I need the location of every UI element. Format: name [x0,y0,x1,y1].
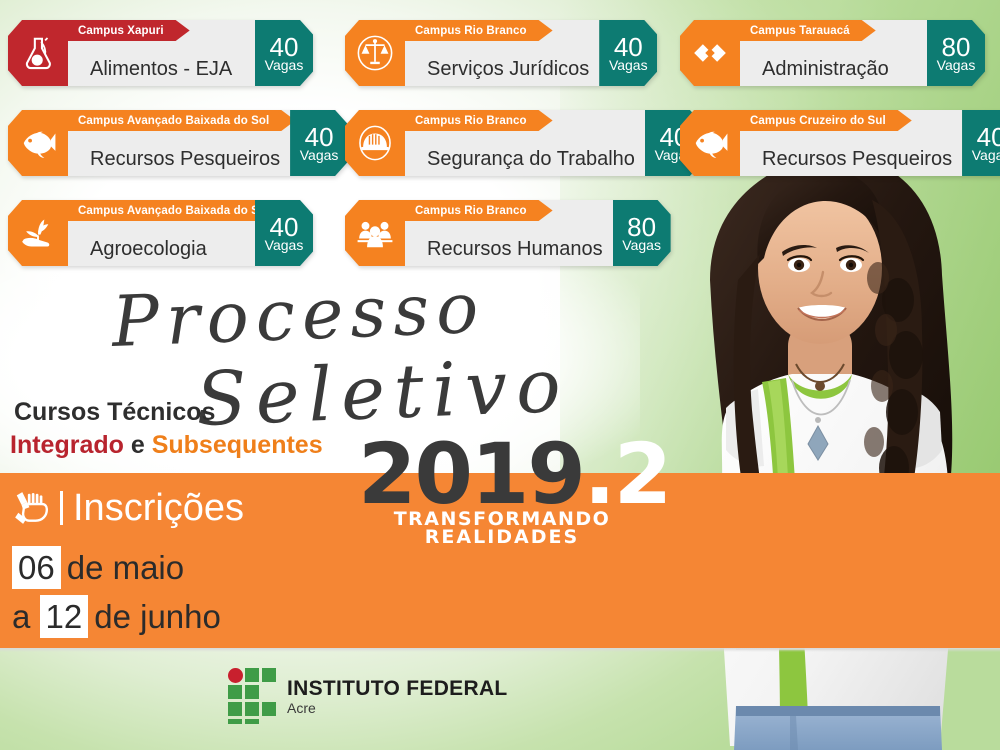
course-icon-badge [680,110,740,176]
instituto-federal-logo-icon [228,668,276,724]
course-title: Recursos Pesqueiros [68,149,290,176]
vagas-label: Vagas [265,58,304,72]
course-cards-grid: Campus Xapuri Alimentos - EJA 40 Vagas [0,0,1000,290]
diamonds-icon [691,34,729,72]
date-end-rest: de junho [88,598,221,635]
course-campus-banner: Campus Rio Branco [405,200,553,221]
writing-hand-icon [12,488,50,528]
course-icon-badge [680,20,740,86]
course-campus-label: Campus Cruzeiro do Sul [750,115,886,127]
logo-institution-name: INSTITUTO FEDERAL [287,678,508,699]
course-campus-banner: Campus Tarauacá [740,20,876,41]
course-icon-badge [8,20,68,86]
subtitle-integrado: Integrado [10,431,124,459]
course-icon-badge [345,110,405,176]
course-campus-label: Campus Avançado Baixada do Sol [78,205,269,217]
course-vagas-badge: 80 Vagas [613,200,671,266]
date-start: 06de maio [12,551,184,584]
course-vagas-badge: 40 Vagas [290,110,348,176]
course-body: Campus Xapuri Alimentos - EJA [68,20,255,86]
course-campus-banner: Campus Cruzeiro do Sul [740,110,912,131]
band-shadow [0,648,1000,652]
vagas-label: Vagas [622,238,661,252]
course-campus-label: Campus Rio Branco [415,25,527,37]
course-campus-label: Campus Avançado Baixada do Sol [78,115,269,127]
course-vagas-badge: 40 Vagas [962,110,1000,176]
course-campus-banner: Campus Xapuri [68,20,190,41]
course-body: Campus Cruzeiro do Sul Recursos Pesqueir… [740,110,962,176]
course-card[interactable]: Campus Rio Branco Recursos Humanos 80 Va… [345,200,640,266]
date-start-rest: de maio [61,549,184,586]
course-campus-label: Campus Rio Branco [415,115,527,127]
course-title: Administração [740,59,927,86]
logo-institution-sub: Acre [287,701,508,715]
course-body: Campus Avançado Baixada do Sol Recursos … [68,110,290,176]
course-title: Serviços Jurídicos [405,59,599,86]
course-campus-label: Campus Xapuri [78,25,164,37]
logo-text: INSTITUTO FEDERAL Acre [287,678,508,715]
course-title: Alimentos - EJA [68,59,255,86]
course-vagas-badge: 40 Vagas [599,20,657,86]
inscriptions-divider [60,491,63,525]
year-text: 2019.2 [358,432,658,516]
subtitle-cursos-tecnicos: Cursos Técnicos [14,398,215,427]
vagas-label: Vagas [937,58,976,72]
course-icon-badge [345,20,405,86]
hand-sprout-icon [19,214,57,252]
poster: Campus Xapuri Alimentos - EJA 40 Vagas [0,0,1000,750]
course-icon-badge [8,200,68,266]
course-vagas-badge: 40 Vagas [255,200,313,266]
date-end-day: 12 [40,595,89,638]
course-body: Campus Rio Branco Recursos Humanos [405,200,613,266]
year-block: 2019.2 TRANSFORMANDO REALIDADES [358,432,658,546]
date-end-prefix: a [12,598,30,635]
scales-of-justice-icon [356,34,394,72]
course-body: Campus Avançado Baixada do Sol Agroecolo… [68,200,255,266]
course-card[interactable]: Campus Avançado Baixada do Sol Agroecolo… [8,200,313,266]
course-icon-badge [8,110,68,176]
course-campus-banner: Campus Rio Branco [405,20,553,41]
fish-icon [19,124,57,162]
course-card[interactable]: Campus Cruzeiro do Sul Recursos Pesqueir… [680,110,985,176]
hard-hat-icon [356,124,394,162]
fish-icon [691,124,729,162]
course-campus-banner: Campus Avançado Baixada do Sol [68,110,295,131]
instituto-federal-logo: INSTITUTO FEDERAL Acre [228,668,508,724]
course-card[interactable]: Campus Rio Branco Segurança do Trabalho … [345,110,640,176]
flask-apple-icon [19,34,57,72]
date-end: a 12de junho [12,600,221,633]
course-body: Campus Rio Branco Serviços Jurídicos [405,20,599,86]
course-icon-badge [345,200,405,266]
date-start-day: 06 [12,546,61,589]
course-campus-label: Campus Tarauacá [750,25,850,37]
course-title: Recursos Humanos [405,239,613,266]
vagas-label: Vagas [265,238,304,252]
course-card[interactable]: Campus Rio Branco Serviços Jurídicos 40 … [345,20,640,86]
course-title: Agroecologia [68,239,255,266]
tagline-line-2: REALIDADES [364,528,640,546]
course-card[interactable]: Campus Xapuri Alimentos - EJA 40 Vagas [8,20,313,86]
subtitle-conjunction: e [131,431,145,459]
course-body: Campus Rio Branco Segurança do Trabalho [405,110,645,176]
inscriptions-header: Inscrições [12,488,244,528]
vagas-label: Vagas [300,148,339,162]
year-minor: 2 [614,425,670,523]
course-vagas-badge: 80 Vagas [927,20,985,86]
subtitle-nivel: Integrado e Subsequentes [10,431,323,460]
people-group-icon [356,214,394,252]
inscriptions-label: Inscrições [73,489,244,527]
vagas-label: Vagas [972,148,1000,162]
course-card[interactable]: Campus Tarauacá Administração 80 Vagas [680,20,985,86]
course-title: Segurança do Trabalho [405,149,645,176]
course-body: Campus Tarauacá Administração [740,20,927,86]
subtitle-subsequentes: Subsequentes [152,431,323,459]
course-campus-banner: Campus Rio Branco [405,110,553,131]
course-card[interactable]: Campus Avançado Baixada do Sol Recursos … [8,110,313,176]
course-vagas-badge: 40 Vagas [255,20,313,86]
vagas-label: Vagas [609,58,648,72]
tagline: TRANSFORMANDO REALIDADES [358,510,640,546]
course-campus-label: Campus Rio Branco [415,205,527,217]
course-title: Recursos Pesqueiros [740,149,962,176]
